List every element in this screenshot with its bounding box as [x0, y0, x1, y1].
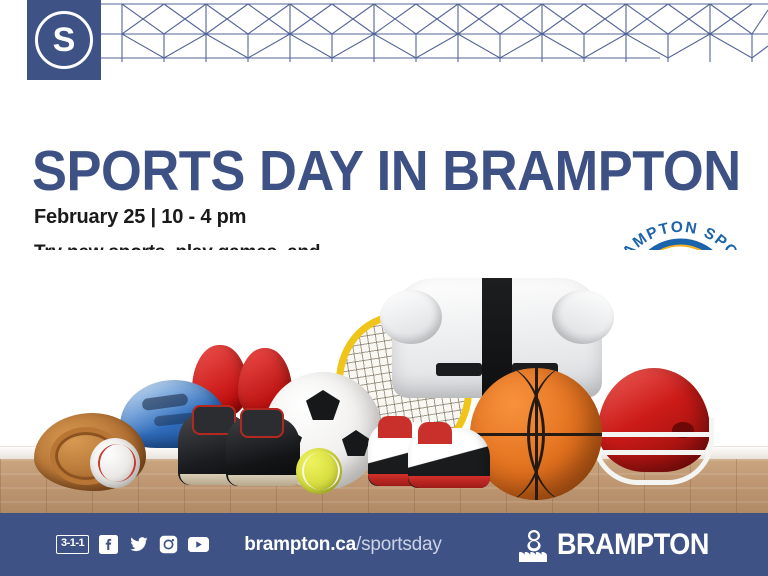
- social-links: 3-1-1: [56, 534, 209, 555]
- sports-day-s-badge: S: [27, 0, 101, 80]
- baseball-seam: [94, 440, 139, 485]
- url-domain: brampton.ca: [244, 534, 356, 555]
- badge-311[interactable]: 3-1-1: [56, 535, 89, 554]
- instagram-icon[interactable]: [158, 534, 179, 555]
- brampton-crest-icon: [518, 528, 550, 562]
- page-title: SPORTS DAY IN BRAMPTON: [32, 142, 694, 200]
- shoe-collar: [418, 422, 452, 444]
- tennis-ball-seam: [302, 452, 340, 490]
- shoe-collar: [378, 416, 412, 438]
- helmet-vent: [141, 393, 188, 411]
- poster-canvas: S SPORTS DAY IN BRAMPTON February 25 | 1…: [0, 0, 768, 576]
- cleat-sole: [228, 475, 299, 486]
- youtube-icon[interactable]: [188, 534, 209, 555]
- event-date-time: February 25 | 10 - 4 pm: [34, 206, 246, 229]
- lattice-pattern-top: [100, 0, 768, 62]
- footer-bar: 3-1-1 brampton.ca/sportsday: [0, 513, 768, 576]
- soccer-panel: [342, 430, 370, 456]
- url-path: /sportsday: [356, 534, 442, 555]
- baseball: [90, 438, 140, 488]
- brampton-city-logo: BRAMPTON: [518, 528, 726, 562]
- brampton-wordmark: BRAMPTON: [557, 528, 709, 562]
- soccer-cleat-right: [226, 418, 300, 486]
- twitter-icon[interactable]: [128, 534, 149, 555]
- sports-equipment-photo: [0, 250, 768, 513]
- basketball-seam: [527, 368, 602, 500]
- tennis-ball: [296, 448, 342, 494]
- soccer-panel: [306, 390, 340, 420]
- facebook-icon[interactable]: [98, 534, 119, 555]
- s-badge-ring: S: [35, 11, 93, 69]
- facemask-bar: [597, 432, 709, 437]
- cleat-tongue: [240, 408, 284, 438]
- facemask-bar: [597, 450, 709, 455]
- shoe-sole: [408, 476, 490, 488]
- basketball-shoe-right: [408, 428, 490, 488]
- website-url[interactable]: brampton.ca/sportsday: [244, 534, 441, 556]
- pads-left-cap: [380, 290, 442, 344]
- s-badge-letter: S: [53, 23, 76, 57]
- basketball: [470, 368, 602, 500]
- football-facemask: [592, 418, 714, 485]
- pads-right-cap: [552, 290, 614, 344]
